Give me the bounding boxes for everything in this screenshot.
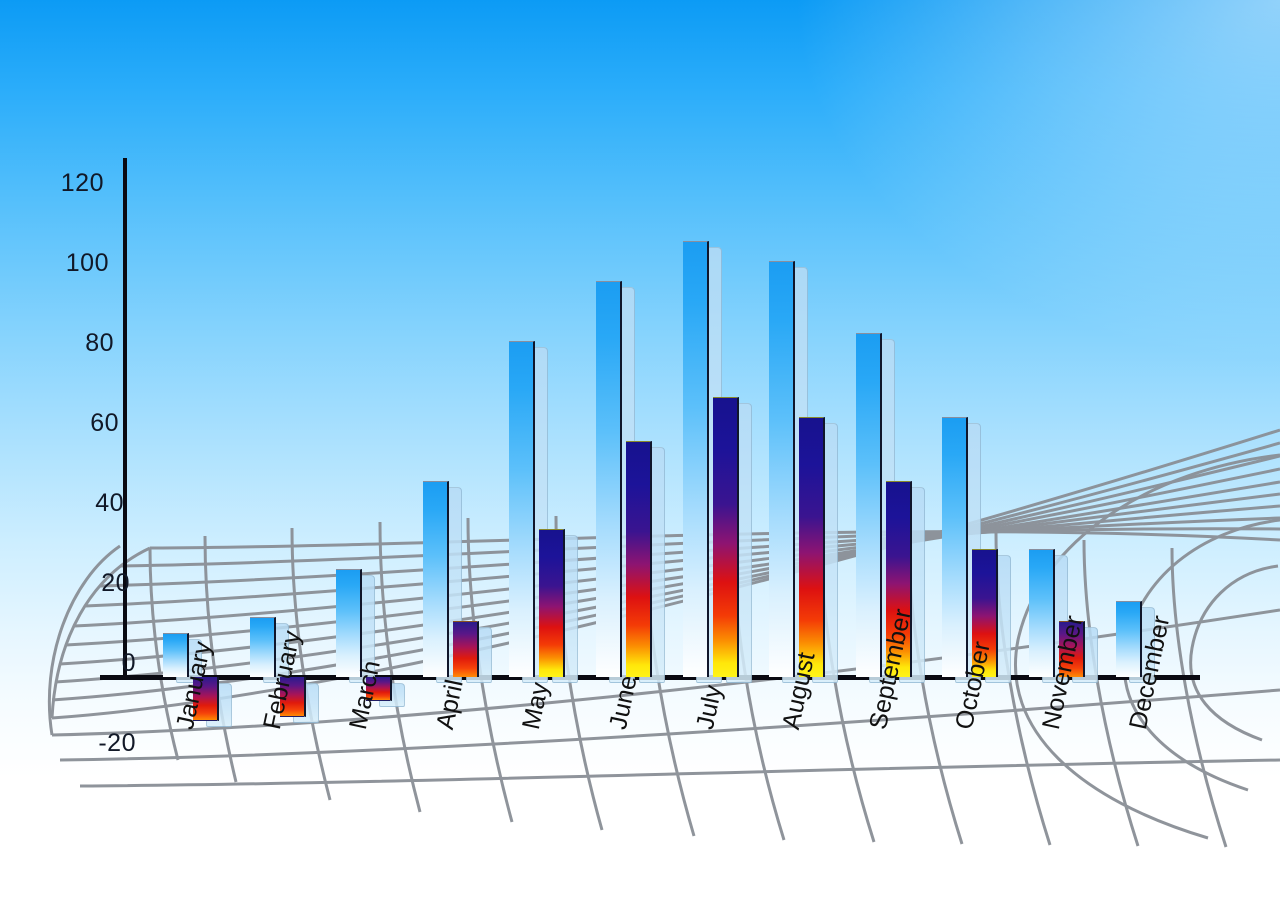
y-tick-label-40: 40 bbox=[72, 489, 124, 518]
bar-face bbox=[626, 441, 652, 677]
y-tick-label-80: 80 bbox=[62, 329, 114, 358]
y-tick-label--20: -20 bbox=[60, 729, 136, 758]
bar-july-series2 bbox=[713, 397, 755, 677]
x-label-july: July bbox=[691, 683, 729, 733]
bar-face bbox=[856, 333, 882, 677]
y-tick-label-120: 120 bbox=[52, 169, 104, 198]
bar-face bbox=[453, 621, 479, 677]
bar-face bbox=[683, 241, 709, 677]
bar-face bbox=[509, 341, 535, 677]
bar-face bbox=[942, 417, 968, 677]
y-axis-line bbox=[123, 158, 127, 678]
y-tick-label-20: 20 bbox=[78, 569, 130, 598]
bar-face bbox=[423, 481, 449, 677]
x-label-may: May bbox=[517, 680, 555, 732]
plot-area: 120 100 80 60 40 20 0 -20 JanuaryFebruar… bbox=[0, 0, 1280, 905]
bar-june-series2 bbox=[626, 441, 668, 677]
y-tick-label-100: 100 bbox=[57, 249, 109, 278]
bar-face bbox=[539, 529, 565, 677]
bar-may-series2 bbox=[539, 529, 581, 677]
chart-canvas: 120 100 80 60 40 20 0 -20 JanuaryFebruar… bbox=[0, 0, 1280, 905]
y-tick-label-0: 0 bbox=[84, 649, 136, 678]
y-tick-label-60: 60 bbox=[67, 409, 119, 438]
bar-face bbox=[769, 261, 795, 677]
bar-face bbox=[596, 281, 622, 677]
x-label-april: April bbox=[431, 677, 470, 732]
bar-face bbox=[713, 397, 739, 677]
bar-april-series2 bbox=[453, 621, 495, 677]
bar-face bbox=[799, 417, 825, 677]
bar-august-series2 bbox=[799, 417, 841, 677]
